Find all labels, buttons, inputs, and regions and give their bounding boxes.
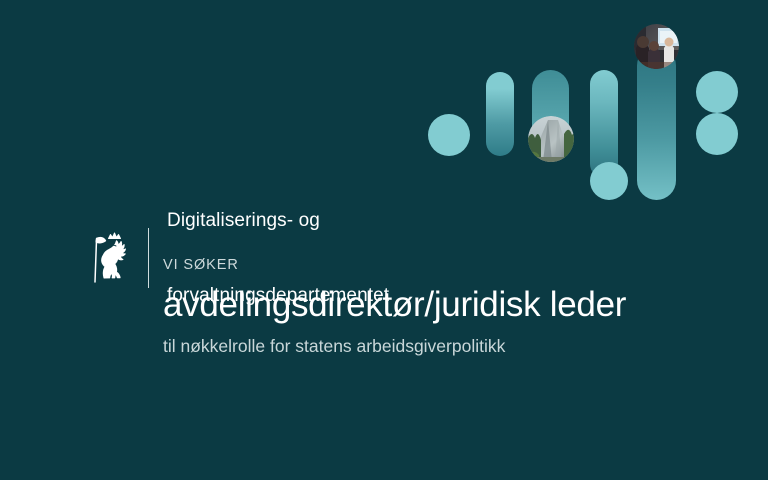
eyebrow-label: VI SØKER [163,256,723,274]
decor-pill-3 [532,70,569,158]
decor-pill-5 [637,46,676,200]
norwegian-coat-of-arms-lion-icon [84,226,132,290]
decor-circle-4-foot [590,162,628,200]
job-ad-content: VI SØKER avdelingsdirektør/juridisk lede… [163,256,723,358]
photo-building-facade [528,116,574,162]
decor-pill-4 [590,70,618,178]
job-title: avdelingsdirektør/juridisk leder [163,284,723,326]
job-ad-poster: Digitaliserings- og forvaltningsdepartem… [0,0,768,480]
decor-circle-1 [428,114,470,156]
photo-meeting-room [634,24,679,69]
decor-pill-2 [486,72,514,156]
job-subtitle: til nøkkelrolle for statens arbeidsgiver… [163,334,723,358]
logo-divider [148,228,149,288]
decor-circle-6-top [696,71,738,113]
decor-circle-6-bottom [696,113,738,155]
logo-text-line-1: Digitaliserings- og [167,208,389,233]
